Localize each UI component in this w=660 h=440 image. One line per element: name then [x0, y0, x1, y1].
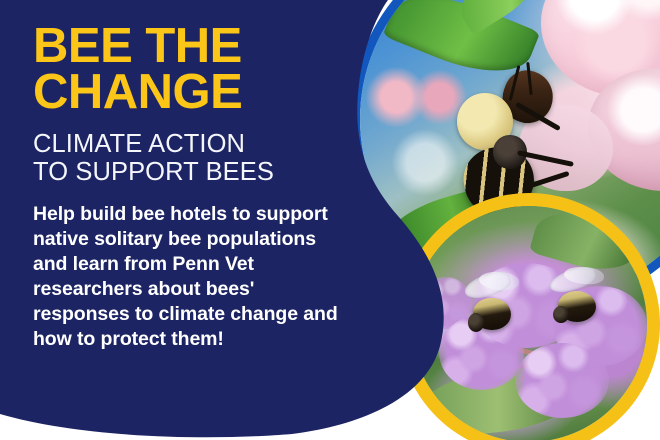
body-copy: Help build bee hotels to support native … — [33, 202, 353, 352]
text-block: BEE THE CHANGE CLIMATE ACTION TO SUPPORT… — [33, 24, 363, 352]
hydrangea-cluster — [515, 343, 609, 419]
subtitle-line-2: TO SUPPORT BEES — [33, 159, 363, 187]
headline-line-2: CHANGE — [33, 70, 363, 116]
bumblebee-icon — [447, 68, 614, 220]
poster-canvas: BEE THE CHANGE CLIMATE ACTION TO SUPPORT… — [0, 0, 660, 440]
bumblebees-hydrangea-photo — [411, 206, 647, 440]
bee-head — [553, 306, 569, 323]
subtitle: CLIMATE ACTION TO SUPPORT BEES — [33, 131, 363, 186]
bee-head — [468, 313, 484, 331]
page-title: BEE THE CHANGE — [33, 24, 363, 115]
bumblebee-icon — [548, 267, 609, 333]
bumblebee-icon — [463, 272, 524, 343]
subtitle-line-1: CLIMATE ACTION — [33, 130, 245, 158]
